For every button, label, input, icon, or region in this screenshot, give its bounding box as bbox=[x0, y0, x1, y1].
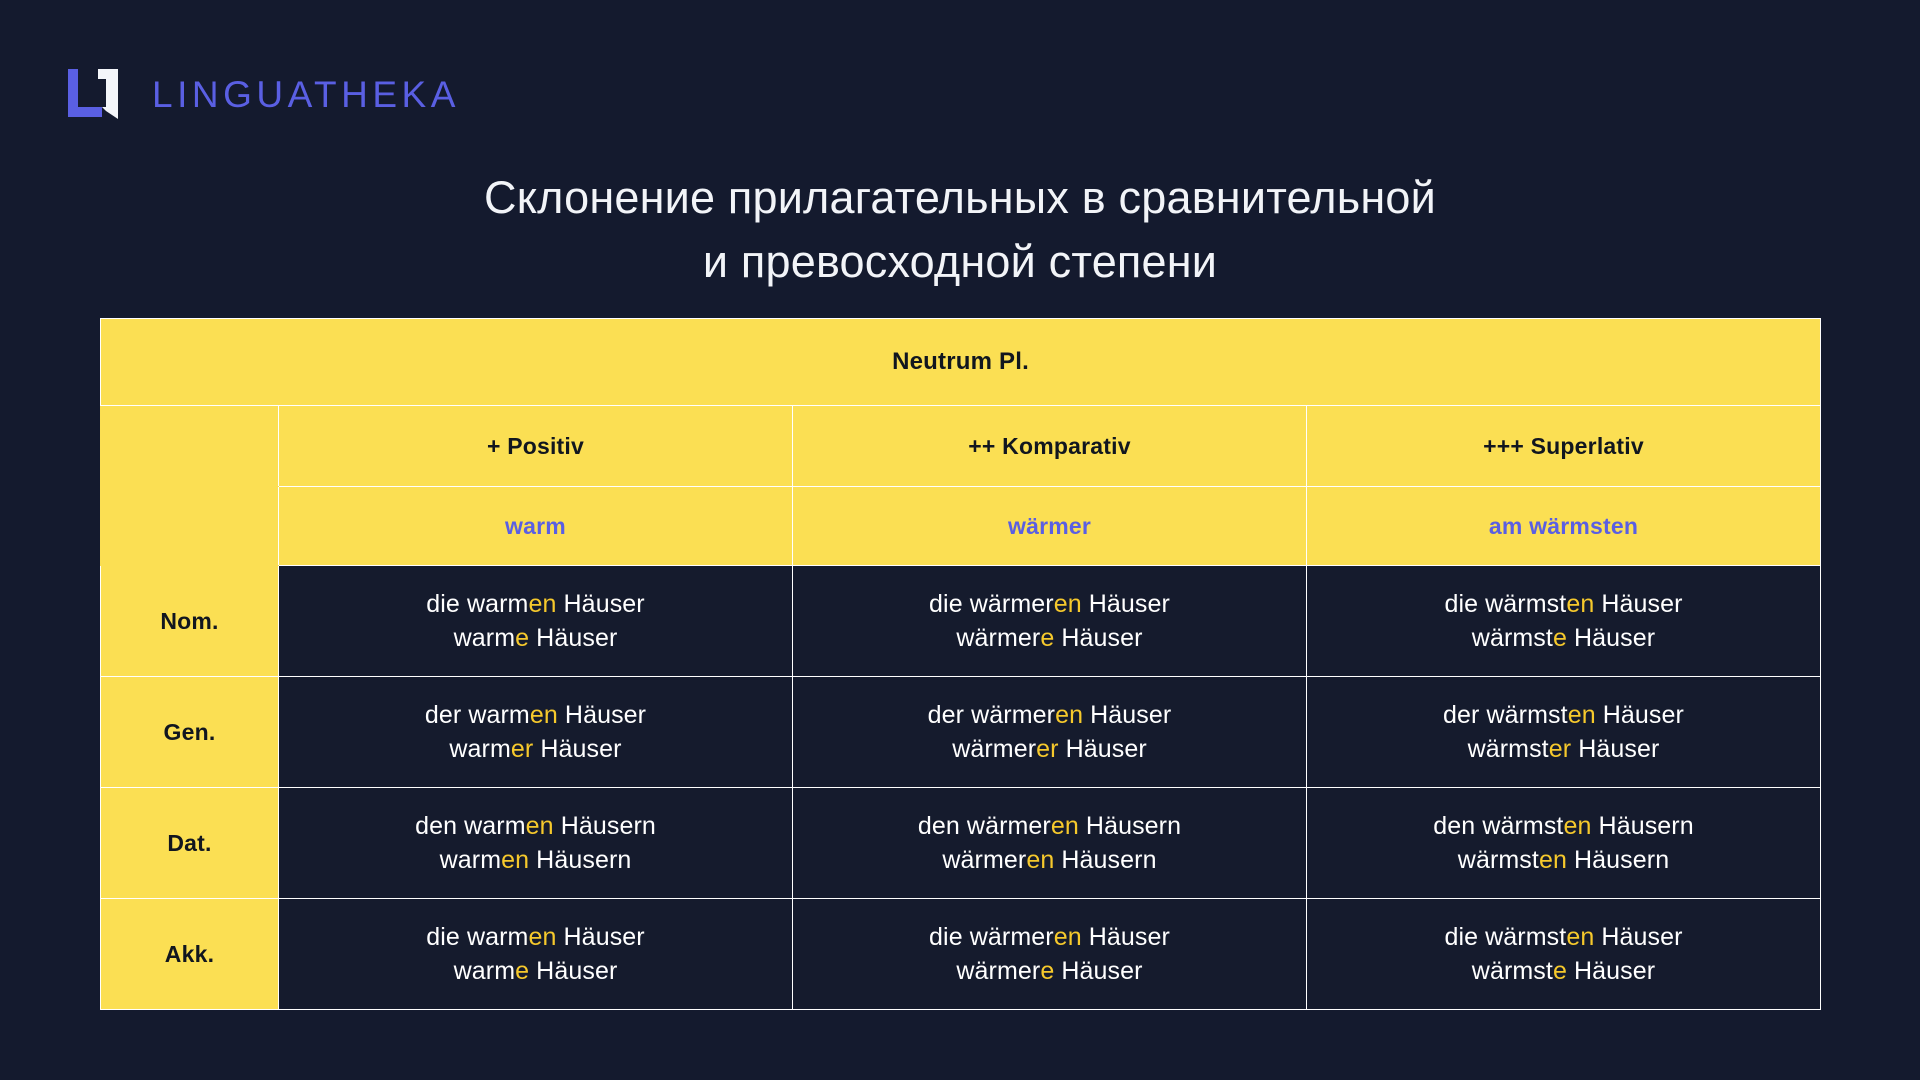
adjective-ending: en bbox=[1051, 812, 1079, 840]
adjective-ending: en bbox=[1568, 701, 1596, 729]
page-title-line1: Склонение прилагательных в сравнительной bbox=[0, 166, 1920, 230]
header-komparativ: ++ Komparativ bbox=[793, 406, 1307, 487]
adjective-ending: e bbox=[1040, 957, 1054, 985]
header-corner-cell bbox=[101, 406, 279, 487]
adjective-ending: en bbox=[526, 812, 554, 840]
table-caption-cell: Neutrum Pl. bbox=[101, 319, 1821, 406]
adjective-ending: en bbox=[1054, 590, 1082, 618]
form-cell-positiv: den warmen Häusernwarmen Häusern bbox=[279, 788, 793, 899]
form-line: warmer Häuser bbox=[279, 732, 792, 766]
base-form-positiv: warm bbox=[279, 487, 793, 566]
table-row: Nom.die warmen Häuserwarme Häuserdie wär… bbox=[101, 566, 1821, 677]
form-cell-superlativ: die wärmsten Häuserwärmste Häuser bbox=[1307, 899, 1821, 1010]
form-cell-komparativ: die wärmeren Häuserwärmere Häuser bbox=[793, 899, 1307, 1010]
table-grade-header-row: + Positiv ++ Komparativ +++ Superlativ bbox=[101, 406, 1821, 487]
base-form-komparativ: wärmer bbox=[793, 487, 1307, 566]
base-form-superlativ: am wärmsten bbox=[1307, 487, 1821, 566]
brand-name: LINGUATHEKA bbox=[152, 76, 460, 113]
case-label-nom: Nom. bbox=[101, 566, 279, 677]
form-line: wärmere Häuser bbox=[793, 621, 1306, 655]
form-line: der wärmeren Häuser bbox=[793, 698, 1306, 732]
form-cell-superlativ: die wärmsten Häuserwärmste Häuser bbox=[1307, 566, 1821, 677]
form-line: warme Häuser bbox=[279, 621, 792, 655]
adjective-ending: e bbox=[1553, 957, 1567, 985]
form-cell-komparativ: der wärmeren Häuserwärmerer Häuser bbox=[793, 677, 1307, 788]
bracket-logo-icon bbox=[62, 63, 124, 125]
form-cell-superlativ: den wärmsten Häusernwärmsten Häusern bbox=[1307, 788, 1821, 899]
form-line: warmen Häusern bbox=[279, 843, 792, 877]
page-title: Склонение прилагательных в сравнительной… bbox=[0, 166, 1920, 294]
adjective-ending: e bbox=[515, 957, 529, 985]
declension-table-body: Neutrum Pl. + Positiv ++ Komparativ +++ … bbox=[101, 319, 1821, 566]
form-line: wärmste Häuser bbox=[1307, 621, 1820, 655]
form-cell-positiv: die warmen Häuserwarme Häuser bbox=[279, 899, 793, 1010]
form-line: die wärmeren Häuser bbox=[793, 587, 1306, 621]
form-line: den wärmeren Häusern bbox=[793, 809, 1306, 843]
base-form-corner-cell bbox=[101, 487, 279, 566]
form-line: warme Häuser bbox=[279, 954, 792, 988]
form-cell-komparativ: den wärmeren Häusernwärmeren Häusern bbox=[793, 788, 1307, 899]
form-line: der wärmsten Häuser bbox=[1307, 698, 1820, 732]
adjective-ending: en bbox=[528, 923, 556, 951]
table-caption-row: Neutrum Pl. bbox=[101, 319, 1821, 406]
form-line: wärmster Häuser bbox=[1307, 732, 1820, 766]
adjective-ending: en bbox=[1563, 812, 1591, 840]
form-cell-superlativ: der wärmsten Häuserwärmster Häuser bbox=[1307, 677, 1821, 788]
adjective-ending: e bbox=[1040, 624, 1054, 652]
adjective-ending: en bbox=[501, 846, 529, 874]
form-line: der warmen Häuser bbox=[279, 698, 792, 732]
adjective-ending: en bbox=[1539, 846, 1567, 874]
form-line: den wärmsten Häusern bbox=[1307, 809, 1820, 843]
form-line: die warmen Häuser bbox=[279, 587, 792, 621]
adjective-ending: er bbox=[1549, 735, 1571, 763]
adjective-ending: en bbox=[1566, 923, 1594, 951]
adjective-ending: er bbox=[1036, 735, 1058, 763]
form-cell-positiv: die warmen Häuserwarme Häuser bbox=[279, 566, 793, 677]
brand-logo: LINGUATHEKA bbox=[62, 62, 460, 126]
table-row: Gen.der warmen Häuserwarmer Häuserder wä… bbox=[101, 677, 1821, 788]
adjective-ending: en bbox=[1026, 846, 1054, 874]
adjective-ending: en bbox=[528, 590, 556, 618]
adjective-ending: en bbox=[1566, 590, 1594, 618]
form-cell-komparativ: die wärmeren Häuserwärmere Häuser bbox=[793, 566, 1307, 677]
adjective-ending: en bbox=[530, 701, 558, 729]
case-label-dat: Dat. bbox=[101, 788, 279, 899]
form-cell-positiv: der warmen Häuserwarmer Häuser bbox=[279, 677, 793, 788]
declension-case-rows: Nom.die warmen Häuserwarme Häuserdie wär… bbox=[101, 566, 1821, 1010]
case-label-gen: Gen. bbox=[101, 677, 279, 788]
adjective-ending: e bbox=[515, 624, 529, 652]
declension-table: Neutrum Pl. + Positiv ++ Komparativ +++ … bbox=[100, 318, 1821, 1010]
table-base-form-row: warm wärmer am wärmsten bbox=[101, 487, 1821, 566]
table-row: Akk.die warmen Häuserwarme Häuserdie wär… bbox=[101, 899, 1821, 1010]
adjective-ending: en bbox=[1054, 923, 1082, 951]
header-superlativ: +++ Superlativ bbox=[1307, 406, 1821, 487]
adjective-ending: en bbox=[1055, 701, 1083, 729]
form-line: wärmsten Häusern bbox=[1307, 843, 1820, 877]
form-line: die wärmsten Häuser bbox=[1307, 587, 1820, 621]
table-row: Dat.den warmen Häusernwarmen Häusernden … bbox=[101, 788, 1821, 899]
header-positiv: + Positiv bbox=[279, 406, 793, 487]
form-line: wärmere Häuser bbox=[793, 954, 1306, 988]
adjective-ending: e bbox=[1553, 624, 1567, 652]
case-label-akk: Akk. bbox=[101, 899, 279, 1010]
page-title-line2: и превосходной степени bbox=[0, 230, 1920, 294]
adjective-ending: er bbox=[511, 735, 533, 763]
form-line: den warmen Häusern bbox=[279, 809, 792, 843]
form-line: wärmerer Häuser bbox=[793, 732, 1306, 766]
form-line: wärmste Häuser bbox=[1307, 954, 1820, 988]
form-line: die wärmeren Häuser bbox=[793, 920, 1306, 954]
form-line: wärmeren Häusern bbox=[793, 843, 1306, 877]
form-line: die warmen Häuser bbox=[279, 920, 792, 954]
form-line: die wärmsten Häuser bbox=[1307, 920, 1820, 954]
